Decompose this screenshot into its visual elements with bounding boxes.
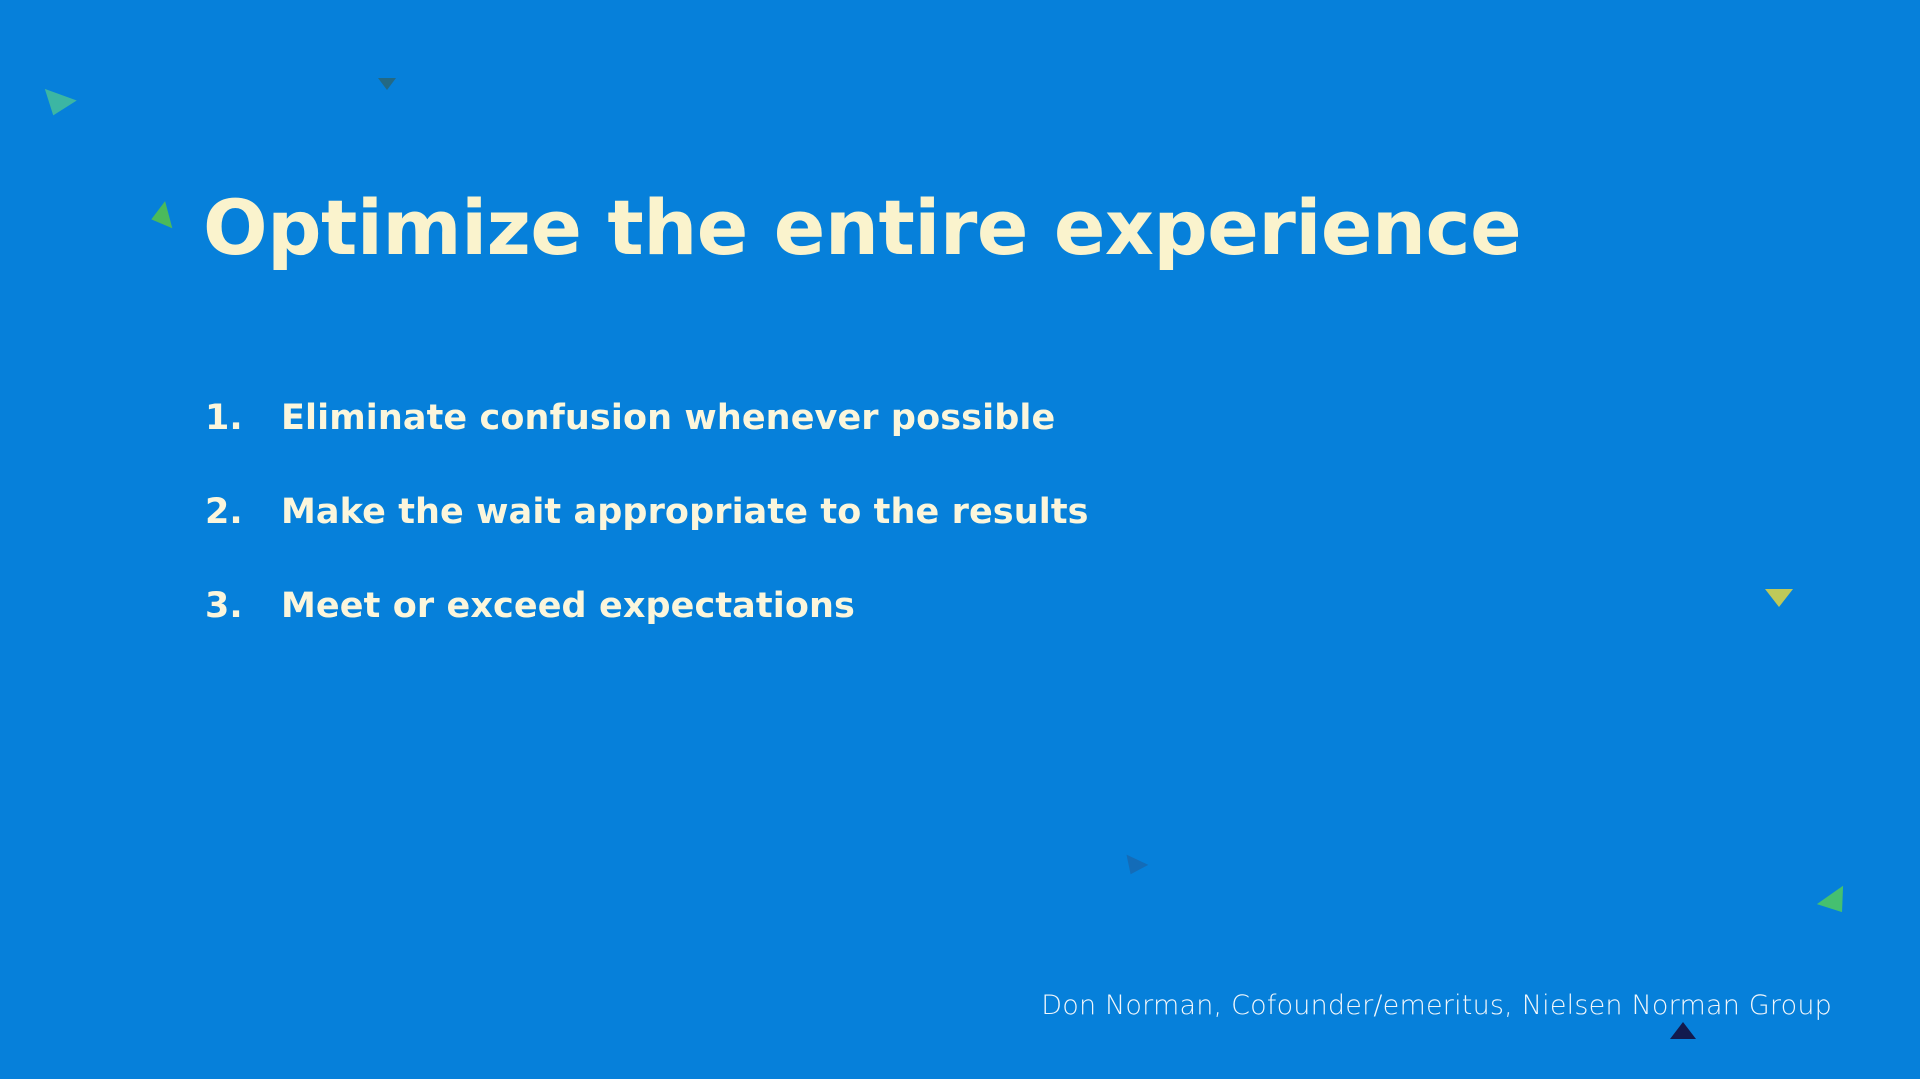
triangle-darkteal-top-icon: [378, 78, 396, 90]
triangle-teal-top-left-icon: [37, 89, 76, 121]
triangle-blue-bottom-center-icon: [1120, 855, 1149, 880]
list-item-text: Meet or exceed expectations: [281, 586, 855, 626]
slide-title: Optimize the entire experience: [203, 190, 1521, 266]
list-item: 2. Make the wait appropriate to the resu…: [205, 492, 1405, 532]
triangle-navy-bottom-icon: [1670, 1022, 1696, 1039]
list-item-number: 1.: [205, 398, 281, 438]
list-item-number: 3.: [205, 586, 281, 626]
list-item: 3. Meet or exceed expectations: [205, 586, 1405, 626]
triangle-green-bottom-right-icon: [1817, 886, 1855, 922]
numbered-list: 1. Eliminate confusion whenever possible…: [205, 398, 1405, 680]
list-item-text: Eliminate confusion whenever possible: [281, 398, 1055, 438]
list-item: 1. Eliminate confusion whenever possible: [205, 398, 1405, 438]
list-item-number: 2.: [205, 492, 281, 532]
triangle-green-title-left-icon: [148, 201, 173, 233]
list-item-text: Make the wait appropriate to the results: [281, 492, 1089, 532]
presentation-slide: Optimize the entire experience 1. Elimin…: [0, 0, 1920, 1079]
attribution-text: Don Norman, Cofounder/emeritus, Nielsen …: [1041, 990, 1832, 1021]
triangle-olive-right-icon: [1765, 589, 1793, 607]
